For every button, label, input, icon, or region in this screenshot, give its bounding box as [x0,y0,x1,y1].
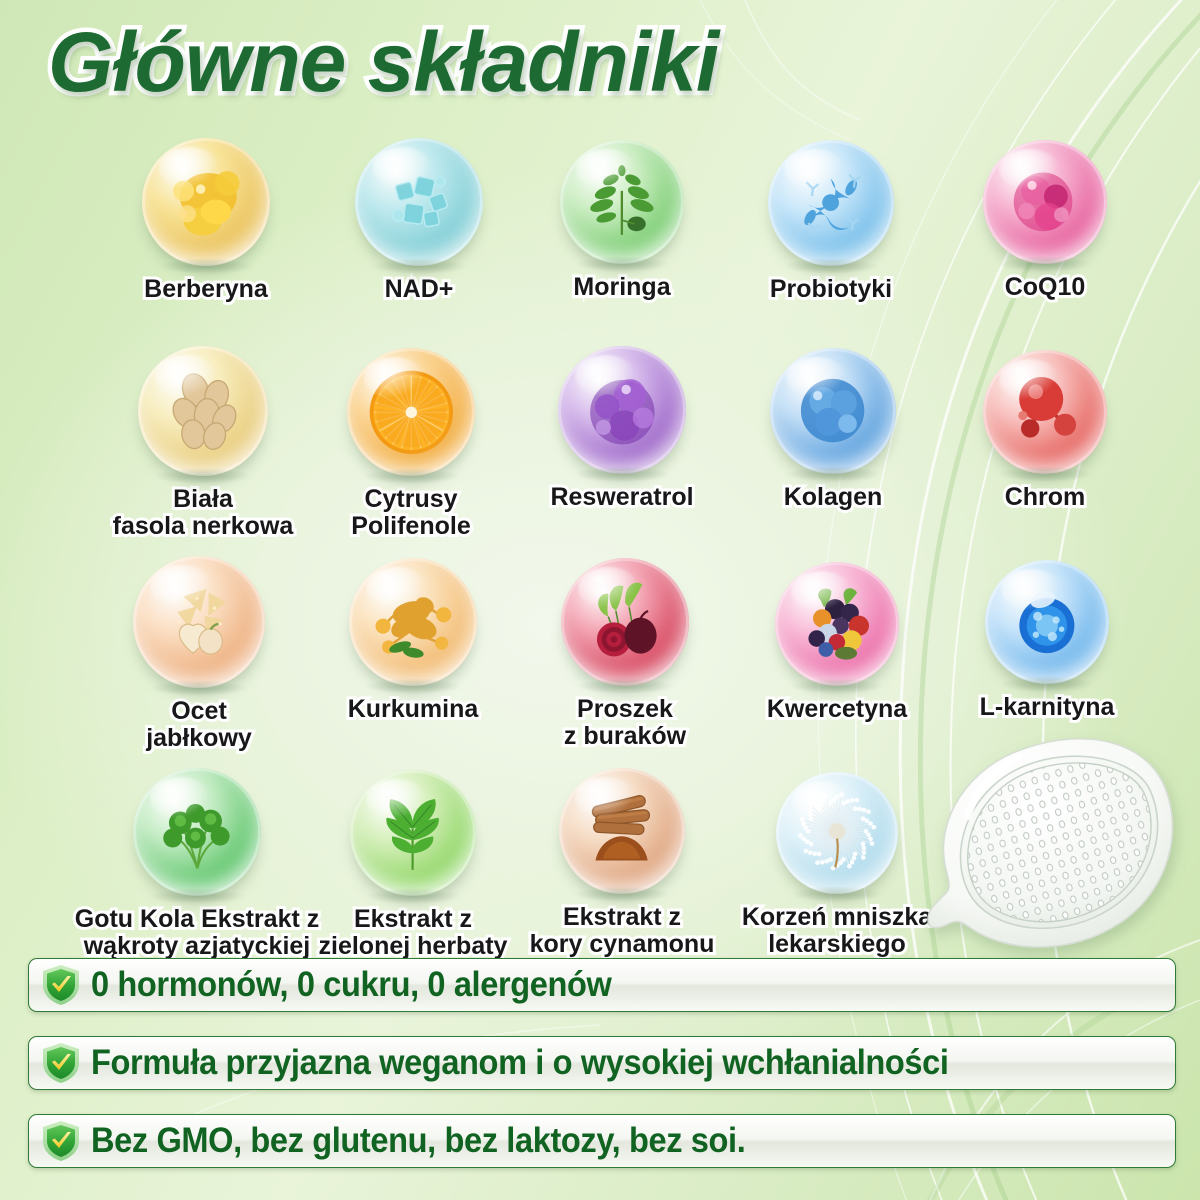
ingredient-label: Chrom [920,484,1170,511]
mixed-berries-icon [775,562,899,686]
orb-drop-shadow [365,888,461,904]
orb-highlight [366,779,426,821]
green-tea-leaf-icon [350,770,476,896]
ingredient-orb [776,772,898,894]
ingredient-orb [560,140,684,264]
beetroot-icon [561,558,689,686]
orb-drop-shadow [148,888,245,904]
ingredient-orb [983,140,1107,264]
orb-drop-shadow [157,258,254,274]
ingredient-item: CoQ10 [920,140,1170,301]
ingredient-orb [355,138,483,266]
orb-highlight [364,357,425,399]
guarantee-badge: Formuła przyjazna weganom i o wysokiej w… [28,1036,1176,1090]
golden-oil-droplets-icon [142,138,270,266]
orb-drop-shadow [574,886,670,902]
guarantee-badge: 0 hormonów, 0 cukru, 0 alergenów [28,958,1176,1012]
orb-drop-shadow [573,466,670,482]
orb-highlight [575,355,636,397]
orb-drop-shadow [998,466,1092,482]
orb-drop-shadow [785,466,881,482]
ingredient-orb [985,560,1109,684]
orb-drop-shadow [783,258,879,274]
ingredient-label: Probiotyki [706,276,956,303]
ingredient-item: Probiotyki [706,140,956,303]
pink-bubbles-icon [983,140,1107,264]
ingredient-orb [138,346,268,476]
orb-drop-shadow [790,678,884,694]
guarantee-badge-text: 0 hormonów, 0 cukru, 0 alergenów [91,965,611,1005]
blue-energy-icon [985,560,1109,684]
orb-drop-shadow [1000,676,1094,692]
ingredient-orb [559,768,685,894]
ingredient-orb [350,770,476,896]
guarantee-badge: Bez GMO, bez glutenu, bez laktozy, bez s… [28,1114,1176,1168]
probiotic-bacteria-icon [768,140,894,266]
apple-vinegar-icon [133,556,265,688]
orb-highlight [150,777,211,819]
moringa-leaf-icon [560,140,684,264]
shield-check-icon [41,1042,81,1084]
ingredient-item: Gotu Kola Ekstrakt z wąkroty azjatyckiej [72,768,322,959]
orb-drop-shadow [362,468,459,484]
purple-bubbles-icon [558,346,686,474]
ingredient-label: Gotu Kola Ekstrakt z wąkroty azjatyckiej [72,906,322,959]
orb-highlight [155,355,217,398]
orb-highlight [999,149,1059,190]
orb-highlight [372,147,433,189]
orb-drop-shadow [364,678,461,694]
orb-highlight [999,359,1059,400]
blue-crystals-icon [355,138,483,266]
ingredient-item: Ocet jabłkowy [74,556,324,751]
orb-highlight [1001,569,1061,610]
header: Główne składniki [0,6,1200,116]
orb-drop-shadow [575,256,669,272]
orb-drop-shadow [576,678,673,694]
orb-highlight [578,567,639,609]
ingredient-label: Ocet jabłkowy [74,698,324,751]
ingredient-orb [133,556,265,688]
blue-collagen-icon [770,348,896,474]
ingredient-orb [347,348,475,476]
ingredient-item: L-karnityna [922,560,1172,721]
orb-highlight [366,567,427,609]
orb-highlight [150,565,213,609]
orb-drop-shadow [998,256,1092,272]
microneedle-patch-device [922,733,1190,958]
orb-highlight [792,781,851,821]
orb-highlight [575,777,635,819]
page-title: Główne składniki [48,14,718,111]
ingredient-label: Ekstrakt z kory cynamonu [497,904,747,957]
ingredient-label: L-karnityna [922,694,1172,721]
orange-slice-icon [347,348,475,476]
ingredient-orb [775,562,899,686]
orb-drop-shadow [370,258,467,274]
orb-drop-shadow [149,680,249,696]
ingredient-label: CoQ10 [920,274,1170,301]
ingredient-orb [133,768,261,896]
guarantee-badge-text: Formuła przyjazna weganom i o wysokiej w… [91,1043,949,1083]
ingredient-orb [770,348,896,474]
orb-highlight [786,357,846,399]
orb-highlight [576,149,636,190]
cinnamon-bark-icon [559,768,685,894]
ingredient-orb [142,138,270,266]
ingredient-orb [561,558,689,686]
guarantee-badge-list: 0 hormonów, 0 cukru, 0 alergenów Formuła… [28,958,1176,1192]
orb-drop-shadow [791,886,884,902]
orb-highlight [159,147,220,189]
white-beans-icon [138,346,268,476]
ingredient-item: Ekstrakt z kory cynamonu [497,768,747,957]
dandelion-icon [776,772,898,894]
ingredient-orb [983,350,1107,474]
shield-check-icon [41,964,81,1006]
ingredient-item: Chrom [920,350,1170,511]
infographic-page: Główne składniki Berberyna NAD+ [0,0,1200,1200]
ingredient-orb [558,346,686,474]
ingredient-orb [349,558,477,686]
turmeric-root-icon [349,558,477,686]
shield-check-icon [41,1120,81,1162]
guarantee-badge-text: Bez GMO, bez glutenu, bez laktozy, bez s… [91,1121,745,1161]
orb-highlight [791,571,851,612]
ingredient-orb [768,140,894,266]
gotu-kola-icon [133,768,261,896]
orb-drop-shadow [154,468,253,484]
red-molecule-icon [983,350,1107,474]
orb-highlight [784,149,844,191]
